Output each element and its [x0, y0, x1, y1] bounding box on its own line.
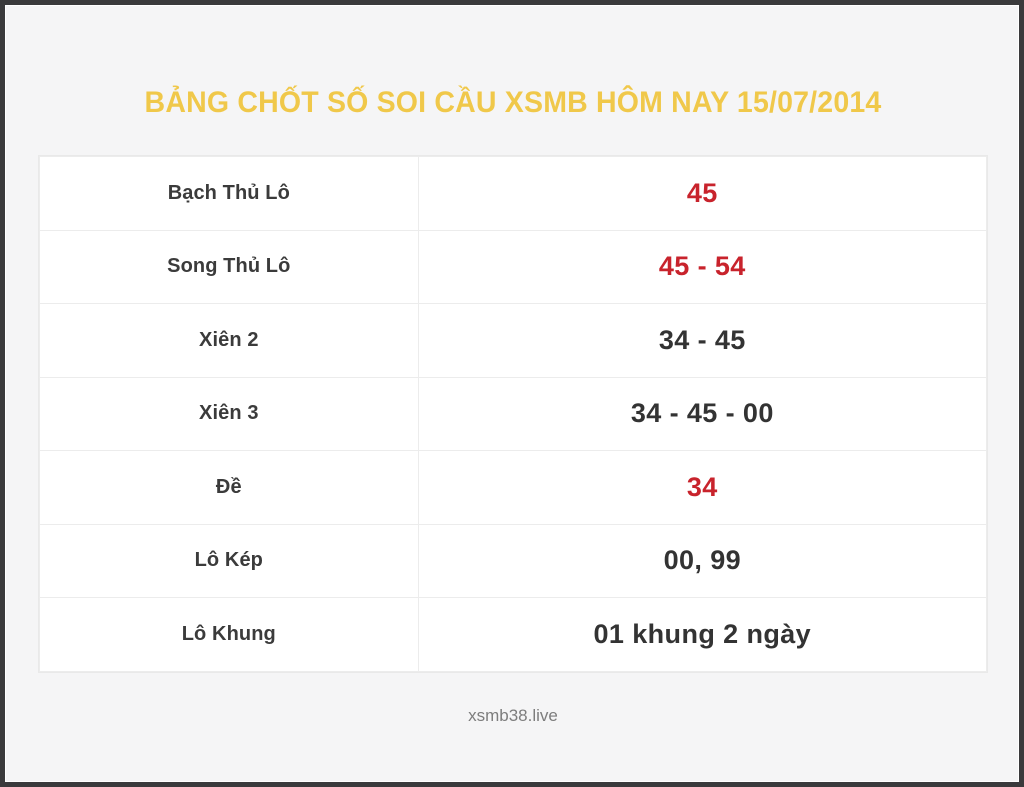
row-value: 01 khung 2 ngày — [418, 598, 986, 672]
page-title: BẢNG CHỐT SỐ SOI CẦU XSMB HÔM NAY 15/07/… — [31, 86, 994, 120]
row-value: 34 - 45 — [418, 304, 986, 378]
page-container: BẢNG CHỐT SỐ SOI CẦU XSMB HÔM NAY 15/07/… — [5, 5, 1019, 782]
row-label: Xiên 2 — [40, 304, 419, 378]
site-watermark: xsmb38.live — [6, 706, 1019, 726]
row-value: 45 — [418, 157, 986, 231]
row-label: Bạch Thủ Lô — [40, 157, 419, 231]
table-row: Xiên 3 34 - 45 - 00 — [40, 377, 987, 451]
table-row: Lô Khung 01 khung 2 ngày — [40, 598, 987, 672]
row-label: Lô Khung — [40, 598, 419, 672]
row-value: 34 — [418, 451, 986, 525]
row-label: Lô Kép — [40, 524, 419, 598]
prediction-table-body: Bạch Thủ Lô 45 Song Thủ Lô 45 - 54 Xiên … — [40, 157, 987, 672]
row-label: Song Thủ Lô — [40, 230, 419, 304]
row-label: Xiên 3 — [40, 377, 419, 451]
table-row: Song Thủ Lô 45 - 54 — [40, 230, 987, 304]
row-label: Đề — [40, 451, 419, 525]
row-value: 45 - 54 — [418, 230, 986, 304]
table-row: Lô Kép 00, 99 — [40, 524, 987, 598]
table-row: Đề 34 — [40, 451, 987, 525]
row-value: 34 - 45 - 00 — [418, 377, 986, 451]
table-row: Xiên 2 34 - 45 — [40, 304, 987, 378]
row-value: 00, 99 — [418, 524, 986, 598]
table-row: Bạch Thủ Lô 45 — [40, 157, 987, 231]
prediction-table: Bạch Thủ Lô 45 Song Thủ Lô 45 - 54 Xiên … — [39, 156, 987, 672]
